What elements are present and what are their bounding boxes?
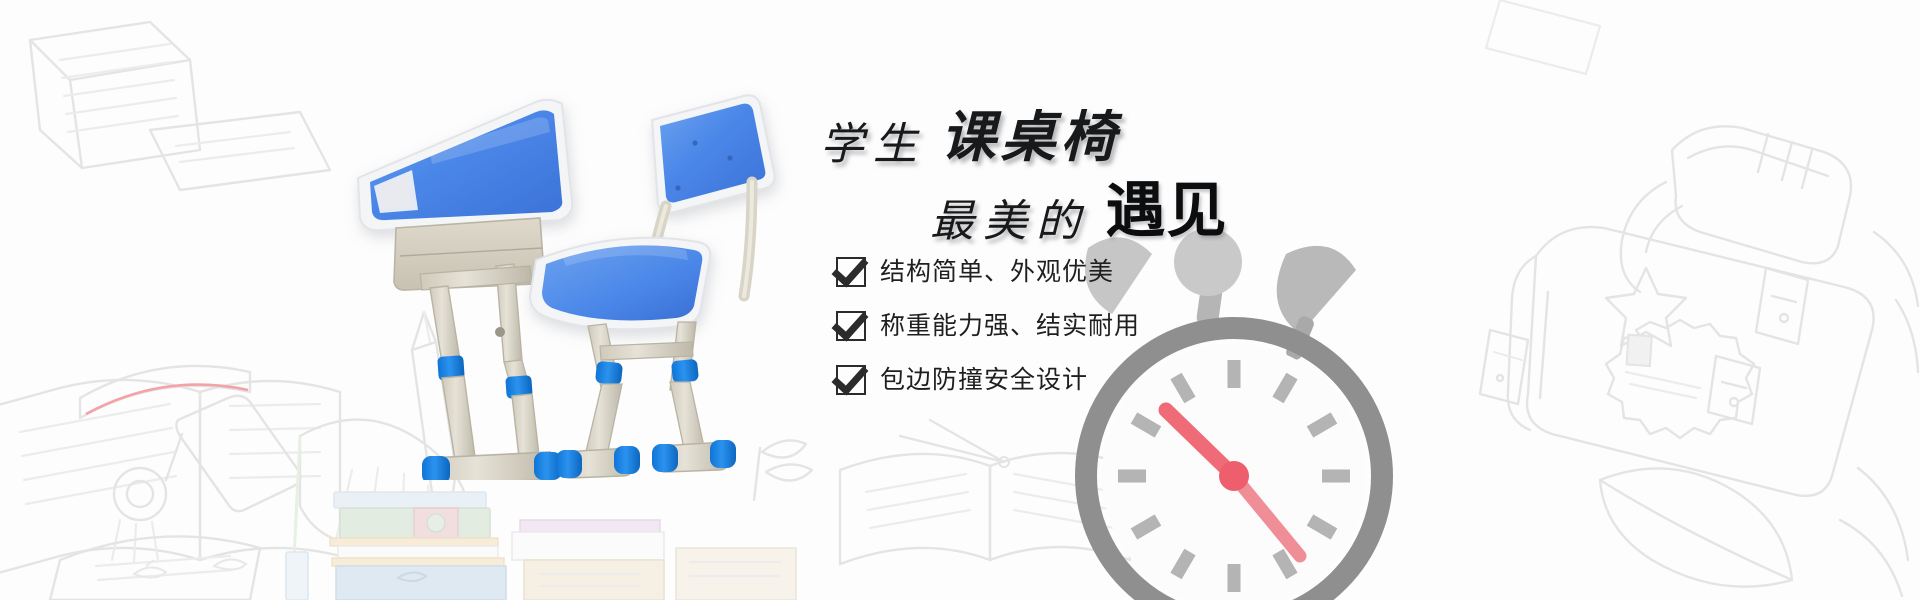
headline-line2-bold: 遇见 xyxy=(1105,162,1227,249)
feature-item: 结构简单、外观优美 xyxy=(836,250,1296,294)
desk-foot xyxy=(422,452,562,480)
check-icon xyxy=(836,257,866,287)
headline-line2-light: 最美的 xyxy=(930,185,1089,249)
check-icon xyxy=(836,365,866,395)
product-image-desk-and-chair xyxy=(300,60,820,480)
check-icon xyxy=(836,311,866,341)
feature-label: 包边防撞安全设计 xyxy=(880,368,1088,393)
feature-item: 包边防撞安全设计 xyxy=(836,358,1296,402)
briefcase-outline xyxy=(1480,227,1874,496)
headline-line-1: 学生 课桌椅 xyxy=(820,92,1120,172)
feature-item: 称重能力强、结实耐用 xyxy=(836,304,1296,348)
headline-line1-light: 学生 xyxy=(820,108,926,172)
open-book-outline-left xyxy=(0,380,340,578)
desk xyxy=(358,100,572,230)
stacked-books xyxy=(286,492,506,600)
desk-leg-right xyxy=(504,360,540,466)
leaf-outline-far-right xyxy=(1874,232,1918,372)
chair-legs xyxy=(584,322,706,460)
promo-banner: .o{fill:none;stroke:#e4e4e4;stroke-width… xyxy=(0,0,1920,600)
feature-label: 称重能力强、结实耐用 xyxy=(880,314,1140,339)
paper-outline-topright xyxy=(1486,0,1600,74)
book-red-edge xyxy=(80,366,250,418)
chair-foot xyxy=(556,440,736,478)
headline-block: 学生 课桌椅 最美的 遇见 xyxy=(812,92,1282,242)
backpack-outline xyxy=(1621,126,1851,292)
headline-line1-bold: 课桌椅 xyxy=(940,92,1120,172)
dove-icon xyxy=(134,560,166,578)
leaf-outline-right xyxy=(1600,468,1908,596)
desk-leg-left xyxy=(430,286,476,466)
headline-line-2: 最美的 遇见 xyxy=(930,162,1227,249)
feature-label: 结构简单、外观优美 xyxy=(880,260,1114,285)
chair-seat xyxy=(530,238,710,330)
feature-list: 结构简单、外观优美 称重能力强、结实耐用 包边防撞安全设计 xyxy=(836,250,1296,412)
notebook-outline-topleft xyxy=(30,22,200,168)
magazine-outline xyxy=(50,536,260,600)
dove-icon-2 xyxy=(214,559,246,569)
